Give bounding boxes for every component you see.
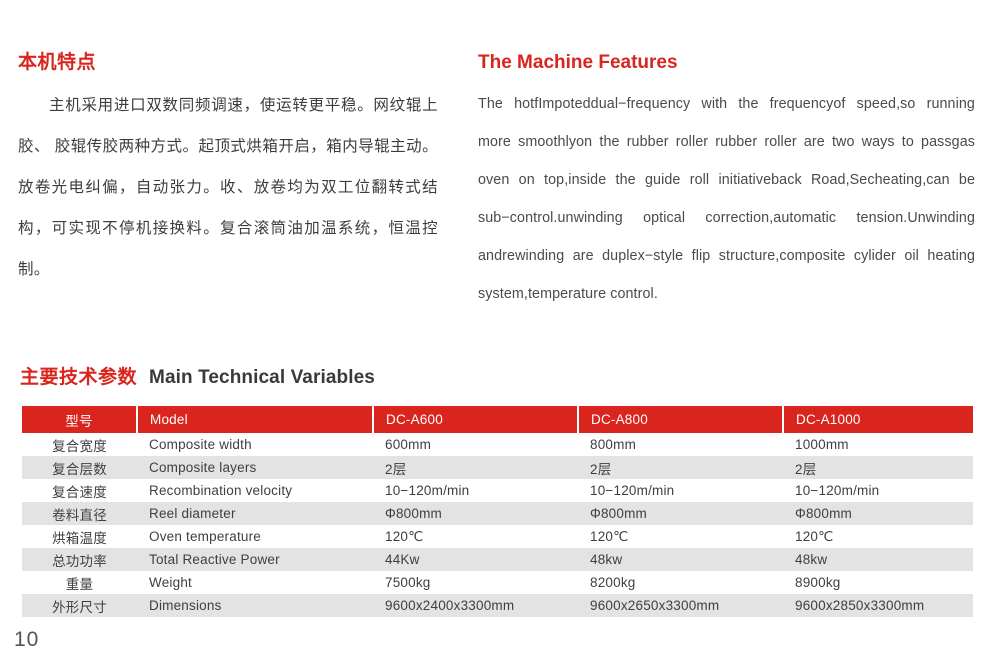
table-cell-label-en: Weight [137, 571, 373, 594]
table-row: 外形尺寸 Dimensions 9600x2400x3300mm 9600x26… [22, 594, 973, 617]
spec-table-container: 型号 Model DC-A600 DC-A800 DC-A1000 复合宽度 C… [22, 406, 973, 617]
table-header-cell: DC-A600 [373, 406, 578, 433]
table-cell-a1000: Φ800mm [783, 502, 973, 525]
table-row: 重量 Weight 7500kg 8200kg 8900kg [22, 571, 973, 594]
features-body-cn: 主机采用进口双数同频调速，使运转更平稳。网纹辊上胶、 胶辊传胶两种方式。起顶式烘… [18, 85, 438, 290]
table-cell-label-cn: 复合层数 [22, 456, 137, 479]
table-cell-a600: 2层 [373, 456, 578, 479]
features-body-en-line: system,temperature control. [478, 275, 975, 313]
machine-features-section: 本机特点 主机采用进口双数同频调速，使运转更平稳。网纹辊上胶、 胶辊传胶两种方式… [0, 0, 1000, 330]
table-cell-label-cn: 复合速度 [22, 479, 137, 502]
section-title: 主要技术参数Main Technical Variables [20, 362, 375, 389]
table-cell-label-en: Composite width [137, 433, 373, 456]
table-cell-label-en: Composite layers [137, 456, 373, 479]
technical-variables-table: 型号 Model DC-A600 DC-A800 DC-A1000 复合宽度 C… [22, 406, 973, 617]
table-cell-label-en: Recombination velocity [137, 479, 373, 502]
features-body-en-line: more smoothlyon the rubber roller rubber… [478, 123, 975, 161]
table-cell-a1000: 1000mm [783, 433, 973, 456]
table-header-cell: Model [137, 406, 373, 433]
section-title-cn: 主要技术参数 [20, 367, 137, 388]
table-cell-a800: 120℃ [578, 525, 783, 548]
table-cell-a600: 44Kw [373, 548, 578, 571]
table-cell-a600: 9600x2400x3300mm [373, 594, 578, 617]
table-cell-a600: 10−120m/min [373, 479, 578, 502]
section-title-en: Main Technical Variables [149, 367, 375, 388]
table-cell-a800: 800mm [578, 433, 783, 456]
features-body-en-line: The hotfImpoteddual−frequency with the f… [478, 85, 975, 123]
table-body: 复合宽度 Composite width 600mm 800mm 1000mm … [22, 433, 973, 617]
table-cell-a800: 2层 [578, 456, 783, 479]
table-cell-a1000: 48kw [783, 548, 973, 571]
features-heading-en: The Machine Features [478, 52, 975, 75]
table-cell-a1000: 8900kg [783, 571, 973, 594]
table-row: 总功功率 Total Reactive Power 44Kw 48kw 48kw [22, 548, 973, 571]
page-number: 10 [14, 628, 39, 652]
features-body-en: The hotfImpoteddual−frequency with the f… [478, 85, 975, 313]
table-header-row: 型号 Model DC-A600 DC-A800 DC-A1000 [22, 406, 973, 433]
features-body-en-line: sub−control.unwinding optical correction… [478, 199, 975, 237]
table-header-cell: 型号 [22, 406, 137, 433]
table-cell-a800: 8200kg [578, 571, 783, 594]
table-cell-a1000: 120℃ [783, 525, 973, 548]
table-cell-label-cn: 卷料直径 [22, 502, 137, 525]
table-row: 复合层数 Composite layers 2层 2层 2层 [22, 456, 973, 479]
table-row: 卷料直径 Reel diameter Φ800mm Φ800mm Φ800mm [22, 502, 973, 525]
table-row: 复合宽度 Composite width 600mm 800mm 1000mm [22, 433, 973, 456]
table-cell-a600: Φ800mm [373, 502, 578, 525]
table-cell-a800: 48kw [578, 548, 783, 571]
table-cell-label-cn: 复合宽度 [22, 433, 137, 456]
table-header-cell: DC-A800 [578, 406, 783, 433]
features-body-en-line: oven on top,inside the guide roll initia… [478, 161, 975, 199]
table-cell-label-cn: 烘箱温度 [22, 525, 137, 548]
table-cell-a600: 120℃ [373, 525, 578, 548]
features-body-en-line: andrewinding are duplex−style flip struc… [478, 237, 975, 275]
table-cell-a1000: 9600x2850x3300mm [783, 594, 973, 617]
table-cell-label-en: Dimensions [137, 594, 373, 617]
features-chinese-column: 本机特点 主机采用进口双数同频调速，使运转更平稳。网纹辊上胶、 胶辊传胶两种方式… [18, 52, 438, 290]
table-header-cell: DC-A1000 [783, 406, 973, 433]
table-cell-label-cn: 总功功率 [22, 548, 137, 571]
table-cell-label-en: Total Reactive Power [137, 548, 373, 571]
features-heading-cn: 本机特点 [18, 52, 438, 75]
table-cell-label-cn: 外形尺寸 [22, 594, 137, 617]
table-cell-a1000: 2层 [783, 456, 973, 479]
table-cell-a800: 9600x2650x3300mm [578, 594, 783, 617]
table-cell-a600: 600mm [373, 433, 578, 456]
table-cell-a600: 7500kg [373, 571, 578, 594]
table-cell-label-en: Reel diameter [137, 502, 373, 525]
table-row: 复合速度 Recombination velocity 10−120m/min … [22, 479, 973, 502]
table-cell-a800: 10−120m/min [578, 479, 783, 502]
table-cell-a1000: 10−120m/min [783, 479, 973, 502]
table-cell-label-cn: 重量 [22, 571, 137, 594]
features-english-column: The Machine Features The hotfImpoteddual… [478, 52, 975, 313]
table-cell-label-en: Oven temperature [137, 525, 373, 548]
table-cell-a800: Φ800mm [578, 502, 783, 525]
table-row: 烘箱温度 Oven temperature 120℃ 120℃ 120℃ [22, 525, 973, 548]
